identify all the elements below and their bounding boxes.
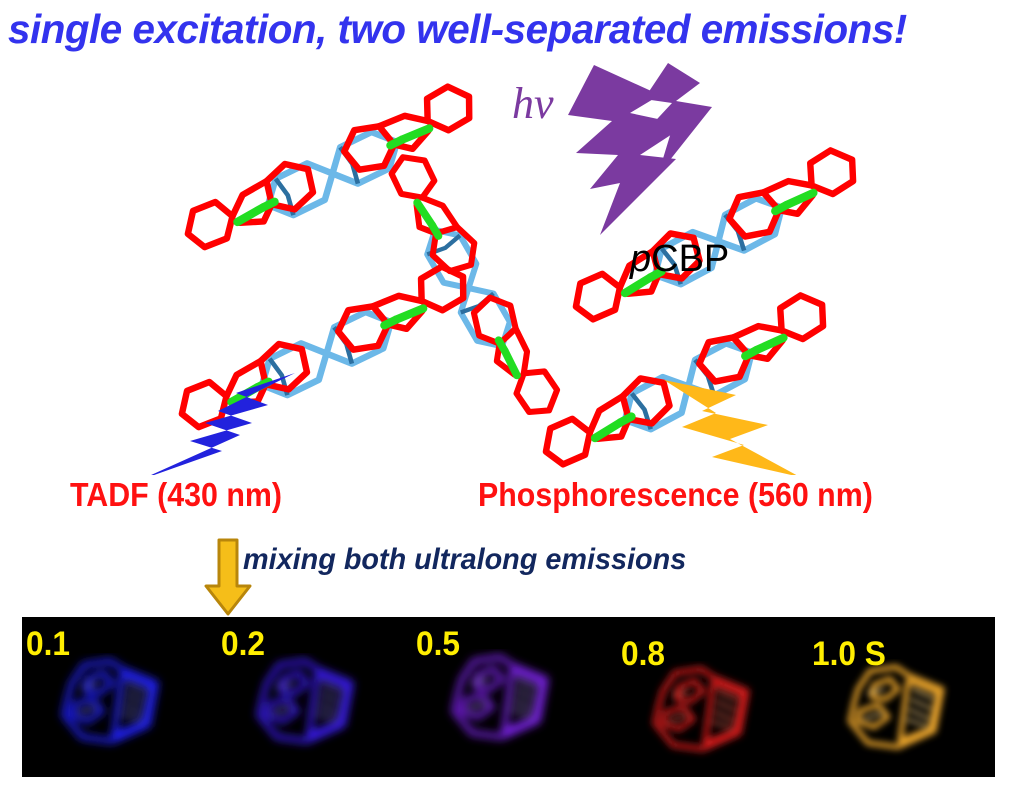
photo-cell-label: 0.8 — [621, 635, 665, 674]
emission-photo-strip: 0.1 0.2 — [22, 617, 995, 777]
material-label-suffix: CBP — [651, 238, 729, 280]
excitation-bolt-icon — [568, 63, 712, 235]
cbp-molecule-5 — [536, 287, 836, 475]
photo-cell: 0.5 — [412, 617, 607, 777]
photo-cell-label: 0.2 — [221, 625, 265, 664]
photo-cell: 0.2 — [217, 617, 412, 777]
photo-cell-label: 1.0 S — [812, 635, 886, 674]
glowing-crystal — [838, 659, 963, 764]
glowing-crystal — [52, 653, 177, 758]
photo-cell: 0.1 — [22, 617, 217, 777]
photo-cell: 0.8 — [607, 617, 802, 777]
headline-text: single excitation, two well-separated em… — [8, 6, 993, 53]
photo-cell-label: 0.5 — [416, 625, 460, 664]
material-label: pCBP — [630, 238, 729, 281]
phosphorescence-caption: Phosphorescence (560 nm) — [478, 476, 873, 514]
photo-cell-label: 0.1 — [26, 625, 70, 664]
cbp-molecule-4 — [173, 259, 476, 441]
glowing-crystal — [442, 649, 567, 754]
glowing-crystal — [643, 661, 768, 766]
excitation-label: hv — [512, 78, 554, 129]
graphical-abstract: single excitation, two well-separated em… — [0, 0, 1013, 788]
material-label-prefix: p — [630, 238, 651, 280]
tadf-caption: TADF (430 nm) — [70, 476, 282, 514]
mixing-caption: mixing both ultralong emissions — [243, 543, 686, 577]
cbp-molecule-3 — [379, 148, 565, 424]
glowing-crystal — [247, 653, 372, 758]
photo-cell: 1.0 S — [802, 617, 995, 777]
molecule-scene — [0, 55, 1013, 475]
